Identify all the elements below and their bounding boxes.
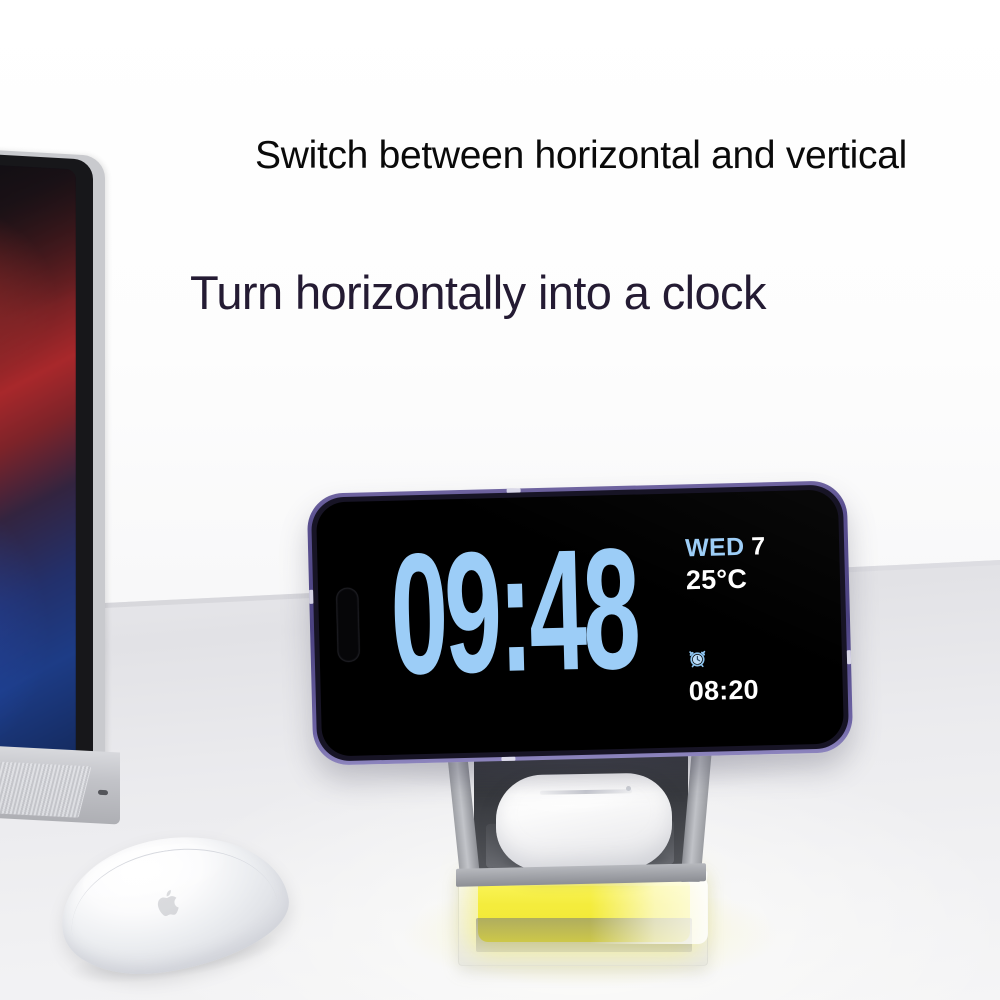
iphone-device: 09:48 WED7 25°C xyxy=(307,480,854,766)
alarm-widget: 08:20 xyxy=(688,648,760,709)
dynamic-island xyxy=(336,588,360,663)
alarm-clock-icon xyxy=(688,648,759,673)
iphone-antenna-line-right xyxy=(847,650,851,664)
macbook-laptop: delete xyxy=(0,150,190,850)
airpods-status-led xyxy=(626,786,631,791)
laptop-screen xyxy=(0,159,76,766)
alarm-time-label: 08:20 xyxy=(688,674,759,709)
date-widget: WED7 xyxy=(685,530,826,564)
headline-main: Turn horizontally into a clock xyxy=(190,265,950,321)
magic-mouse xyxy=(60,828,300,988)
day-of-week-label: WED xyxy=(685,533,745,562)
stand-light-falloff xyxy=(590,878,708,944)
day-number-label: 7 xyxy=(751,532,766,560)
apple-logo-icon xyxy=(154,886,184,920)
clock-time-display: 09:48 xyxy=(389,523,639,701)
laptop-wallpaper-glow xyxy=(0,159,76,766)
iphone-antenna-line-left xyxy=(309,590,313,604)
clock-widgets: WED7 25°C 08:20 xyxy=(685,530,827,598)
phone-stand-charger xyxy=(440,748,730,973)
product-photo-scene: Switch between horizontal and vertical T… xyxy=(0,0,1000,1000)
laptop-port xyxy=(98,790,108,796)
laptop-keyboard xyxy=(0,746,30,798)
temperature-widget: 25°C xyxy=(686,560,827,598)
iphone-screen[interactable]: 09:48 WED7 25°C xyxy=(316,489,844,756)
iphone-antenna-line-bottom xyxy=(501,757,515,761)
headline-subtitle: Switch between horizontal and vertical xyxy=(255,132,915,179)
iphone-antenna-line-top xyxy=(507,488,521,492)
